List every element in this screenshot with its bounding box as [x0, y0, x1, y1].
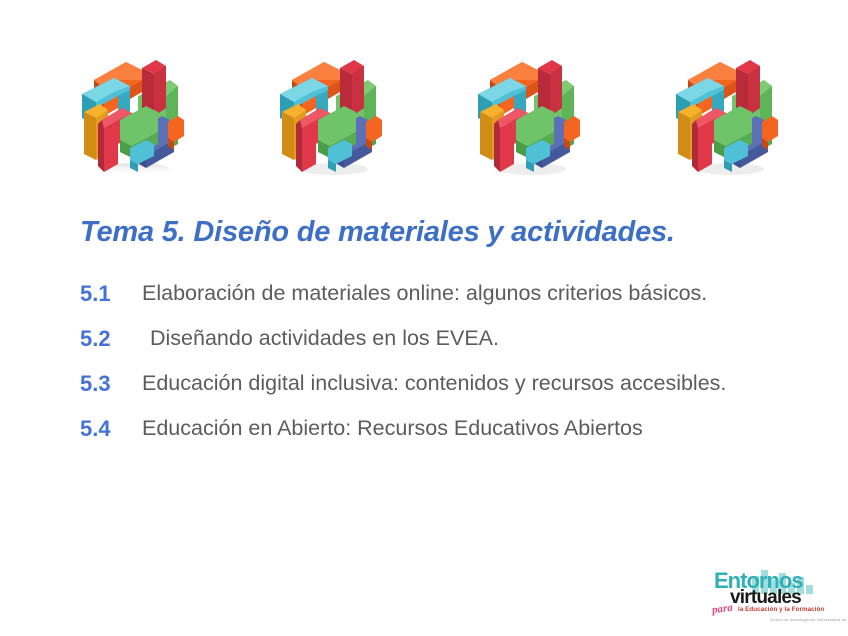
list-item-number: 5.3	[80, 368, 111, 399]
entornos-virtuales-logo: Entornos virtuales para la Educación y l…	[708, 566, 840, 626]
list-item: 5.2 Diseñando actividades en los EVEA.	[80, 323, 780, 354]
logo-subtext: Grupo de Investigación Universidad de Mu…	[770, 617, 848, 622]
puzzle-image-3	[470, 36, 588, 178]
list-item-number: 5.4	[80, 413, 111, 444]
logo-word-virtuales: virtuales	[730, 588, 801, 607]
list-item: 5.1 Elaboración de materiales online: al…	[80, 278, 780, 309]
list-item: 5.3 Educación digital inclusiva: conteni…	[80, 368, 780, 399]
list-item-text: Educación en Abierto: Recursos Educativo…	[142, 413, 780, 444]
puzzle-image-2	[272, 36, 390, 178]
list-item-number: 5.1	[80, 278, 111, 309]
slide-title: Tema 5. Diseño de materiales y actividad…	[80, 216, 810, 249]
list-item-text: Diseñando actividades en los EVEA.	[150, 323, 780, 354]
puzzle-image-row	[0, 36, 848, 182]
puzzle-image-1	[74, 36, 192, 178]
slide-canvas: Tema 5. Diseño de materiales y actividad…	[0, 0, 848, 636]
list-item: 5.4 Educación en Abierto: Recursos Educa…	[80, 413, 780, 444]
list-item-number: 5.2	[80, 323, 111, 354]
list-item-text: Educación digital inclusiva: contenidos …	[142, 368, 780, 399]
list-item-text: Elaboración de materiales online: alguno…	[142, 278, 780, 309]
topic-list: 5.1 Elaboración de materiales online: al…	[80, 278, 780, 458]
logo-tagline: la Educación y la Formación	[738, 607, 824, 613]
logo-script-para: para	[711, 603, 733, 617]
puzzle-image-4	[668, 36, 786, 178]
